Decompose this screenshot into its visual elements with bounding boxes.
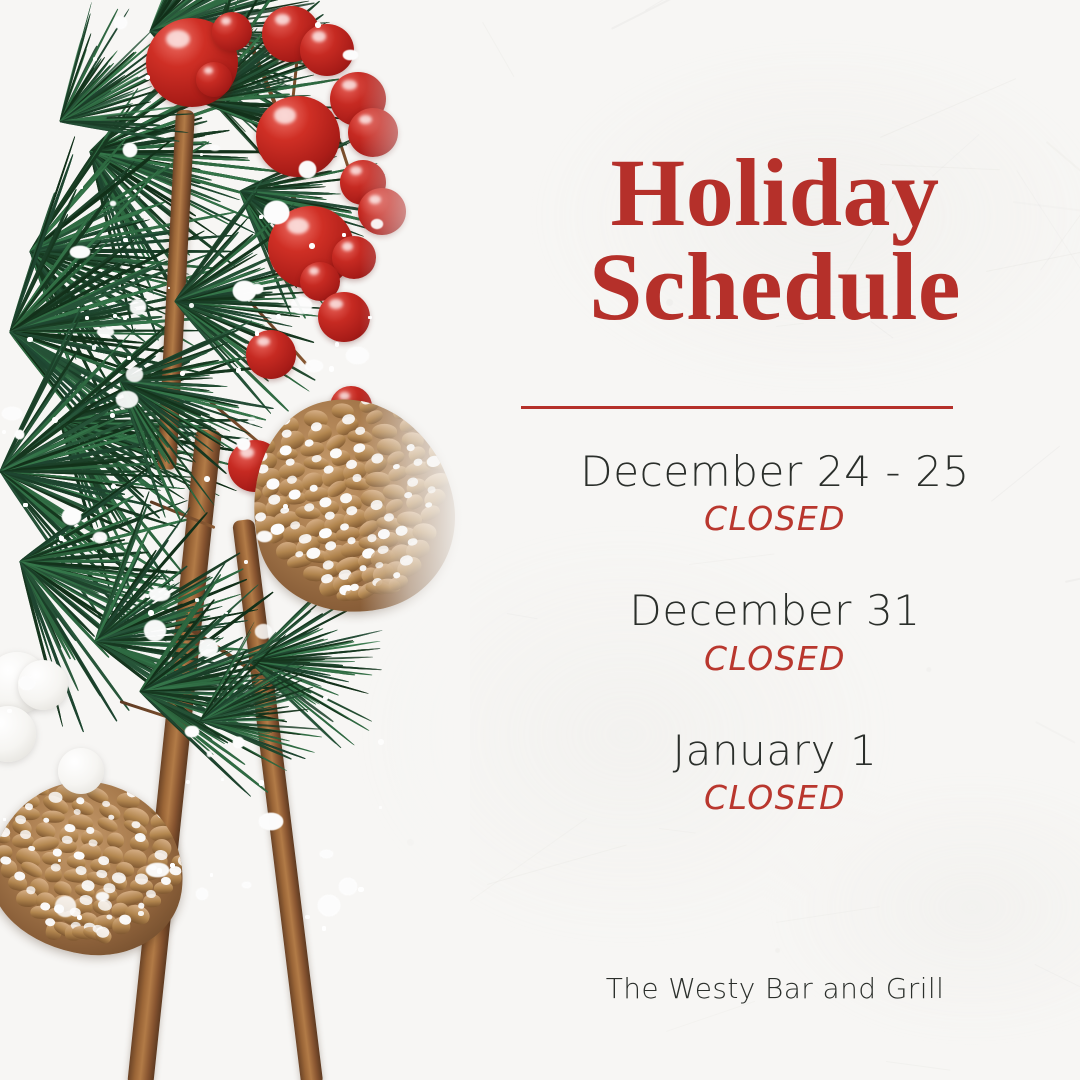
entry-date: December 31 [470,585,1080,636]
pom-pom-icon [58,748,104,794]
pom-pom-icon [0,706,36,762]
schedule-list: December 24 - 25CLOSEDDecember 31CLOSEDJ… [470,446,1080,864]
entry-date: January 1 [470,725,1080,776]
title-line-1: Holiday [470,146,1080,240]
schedule-entry: December 24 - 25CLOSED [470,446,1080,541]
business-name: The Westy Bar and Grill [470,972,1080,1005]
title-line-2: Schedule [470,240,1080,334]
divider-rule [521,406,953,409]
winter-decor-photo [0,0,470,1080]
holiday-schedule-poster: Holiday Schedule December 24 - 25CLOSEDD… [0,0,1080,1080]
status-badge: CLOSED [470,637,1080,681]
red-berry-icon [196,62,232,97]
red-berry-icon [256,96,340,177]
red-berry-icon [246,330,296,379]
schedule-entry: January 1CLOSED [470,725,1080,820]
red-berry-icon [212,12,252,51]
page-title: Holiday Schedule [470,146,1080,334]
entry-date: December 24 - 25 [470,446,1080,497]
text-panel: Holiday Schedule December 24 - 25CLOSEDD… [470,0,1080,1080]
status-badge: CLOSED [470,497,1080,541]
photo-edge-fade [360,0,470,1080]
status-badge: CLOSED [470,776,1080,820]
schedule-entry: December 31CLOSED [470,585,1080,680]
